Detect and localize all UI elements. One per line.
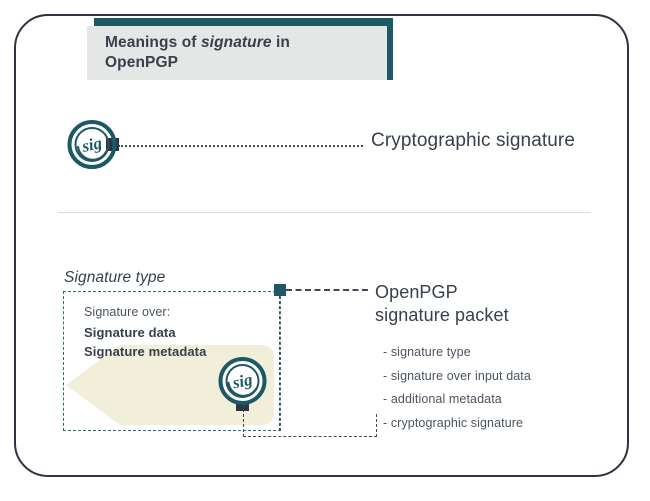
section-divider	[58, 212, 591, 213]
signature-type-label: Signature type	[64, 269, 165, 287]
packet-item: - signature type	[383, 341, 531, 365]
signature-over-intro: Signature over:	[84, 305, 170, 319]
title-prefix: Meanings of	[105, 34, 201, 51]
packet-title-line1: OpenPGP	[375, 282, 458, 302]
title-suffix: in	[272, 34, 290, 51]
connector-crypto-signature	[118, 145, 363, 147]
packet-title: OpenPGPsignature packet	[375, 281, 509, 327]
packet-title-line2: signature packet	[375, 305, 509, 325]
packet-item: - cryptographic signature	[383, 412, 531, 436]
packet-item: - additional metadata	[383, 388, 531, 412]
connector-stamp-up	[376, 414, 377, 437]
connector-stamp-down	[243, 404, 244, 437]
title-emphasis: signature	[201, 34, 272, 51]
title-line2: OpenPGP	[105, 54, 178, 71]
connector-node-down	[279, 296, 280, 431]
cryptographic-signature-label: Cryptographic signature	[371, 130, 575, 152]
connector-stamp-horizontal	[243, 436, 377, 437]
signature-metadata-item: Signature metadata	[84, 344, 206, 359]
page-title: Meanings of signature inOpenPGP	[105, 33, 373, 73]
diagram-canvas: Meanings of signature inOpenPGP sig Cryp…	[0, 0, 650, 501]
connector-node	[274, 284, 286, 296]
connector-node-to-packet	[286, 289, 368, 291]
packet-item-list: - signature type - signature over input …	[383, 341, 531, 435]
signature-data-item: Signature data	[84, 325, 176, 340]
packet-item: - signature over input data	[383, 365, 531, 389]
sig-stamp-icon: sig	[66, 116, 124, 174]
svg-text:sig: sig	[79, 133, 104, 156]
